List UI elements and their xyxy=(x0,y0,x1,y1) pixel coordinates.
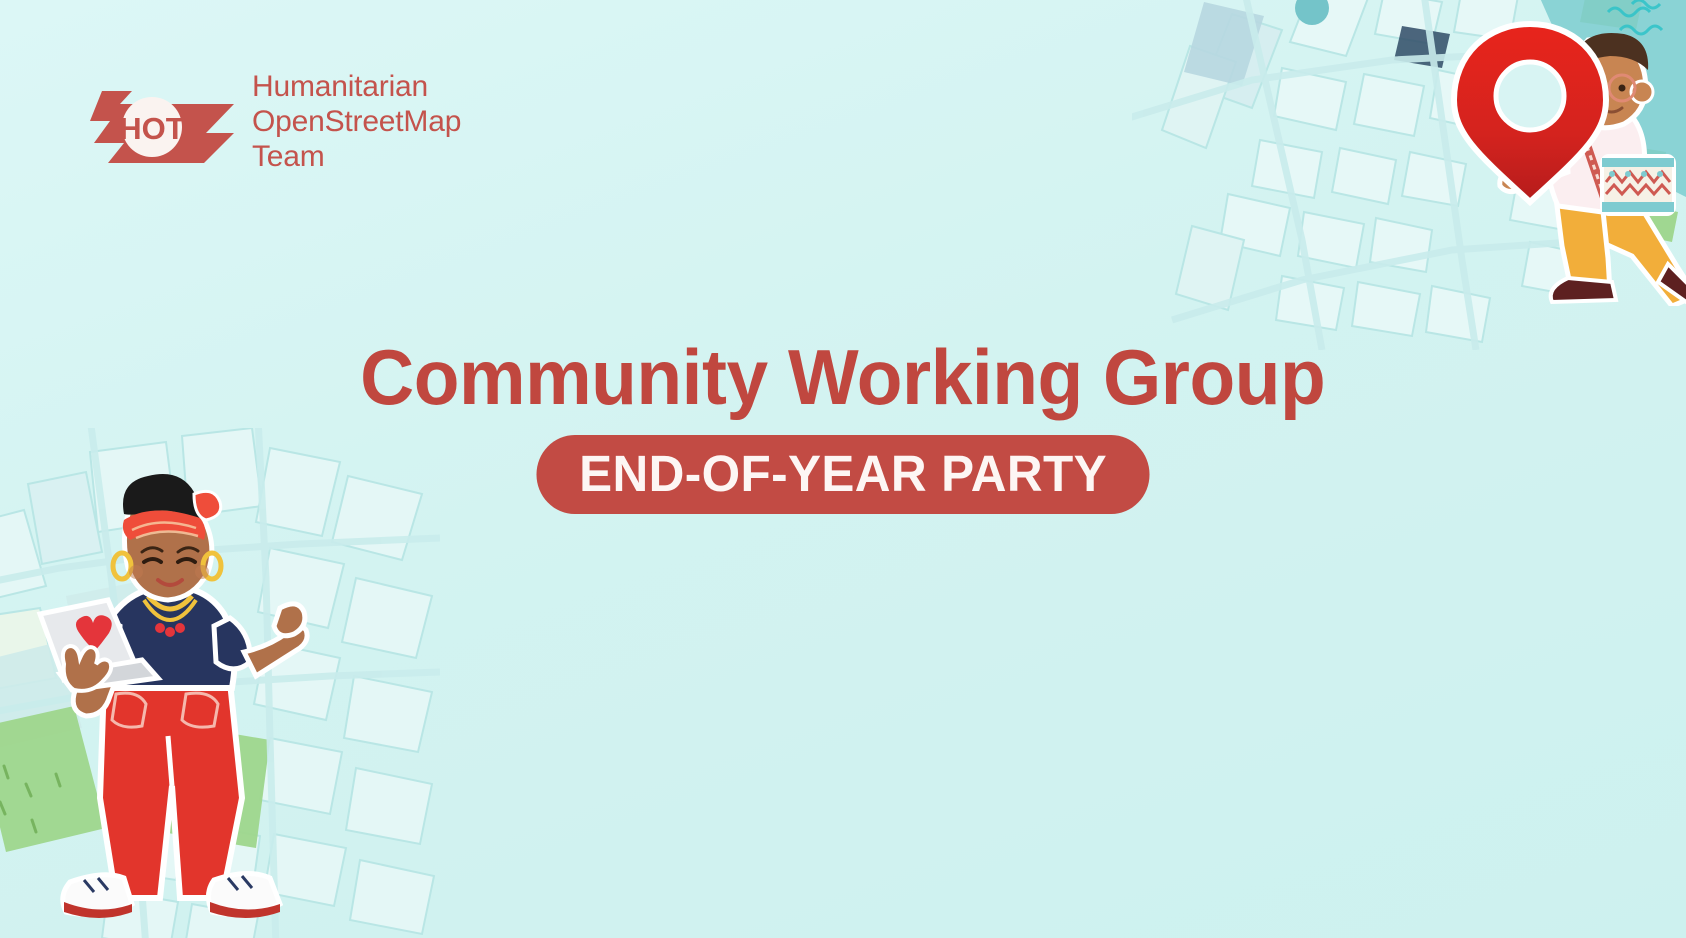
white-sneakers xyxy=(63,873,280,918)
shoulder-bag xyxy=(1602,156,1674,214)
poster-canvas: HOT Humanitarian OpenStreetMap Team Comm… xyxy=(0,0,1686,938)
woman-head xyxy=(113,474,221,600)
hot-mark-text: HOT xyxy=(119,111,185,146)
hot-logo[interactable]: HOT Humanitarian OpenStreetMap Team xyxy=(88,68,461,174)
illustration-woman-mapper-with-laptop xyxy=(8,468,338,938)
illustration-map-pin-with-child xyxy=(1396,6,1686,306)
hot-wordmark: Humanitarian OpenStreetMap Team xyxy=(252,70,461,174)
page-title: Community Working Group xyxy=(360,338,1325,416)
red-trousers xyxy=(100,682,242,898)
hot-banner-icon: HOT xyxy=(88,71,234,171)
event-badge: END-OF-YEAR PARTY xyxy=(536,435,1149,514)
